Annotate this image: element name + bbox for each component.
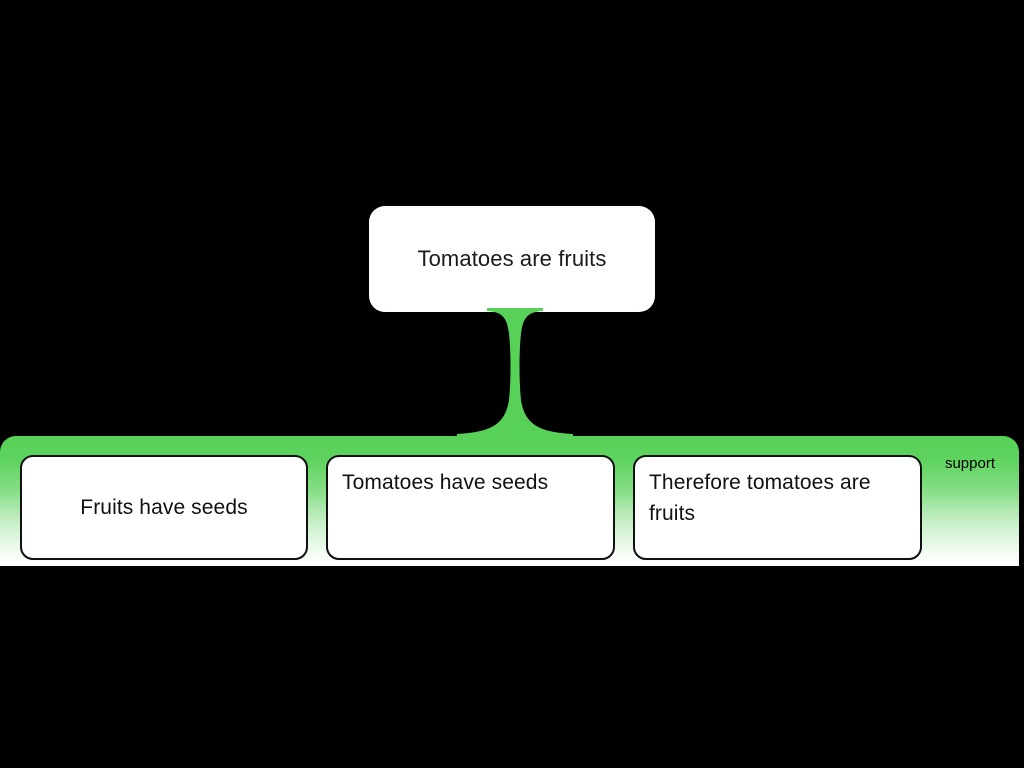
premise-node-2[interactable]: Tomatoes have seeds bbox=[326, 455, 615, 560]
premise-node-3[interactable]: Therefore tomatoes are fruits bbox=[633, 455, 922, 560]
support-connector-icon bbox=[455, 308, 575, 440]
claim-node-label: Tomatoes are fruits bbox=[418, 245, 607, 273]
premise-node-1-label: Fruits have seeds bbox=[80, 492, 247, 523]
premise-node-1[interactable]: Fruits have seeds bbox=[20, 455, 308, 560]
diagram-canvas: Tomatoes are fruits support Fruits have … bbox=[0, 0, 1024, 768]
support-connector bbox=[455, 308, 575, 440]
claim-node[interactable]: Tomatoes are fruits bbox=[369, 206, 655, 312]
premise-node-3-label: Therefore tomatoes are fruits bbox=[649, 467, 906, 529]
premise-node-2-label: Tomatoes have seeds bbox=[342, 467, 548, 498]
support-group-label: support bbox=[945, 455, 995, 473]
